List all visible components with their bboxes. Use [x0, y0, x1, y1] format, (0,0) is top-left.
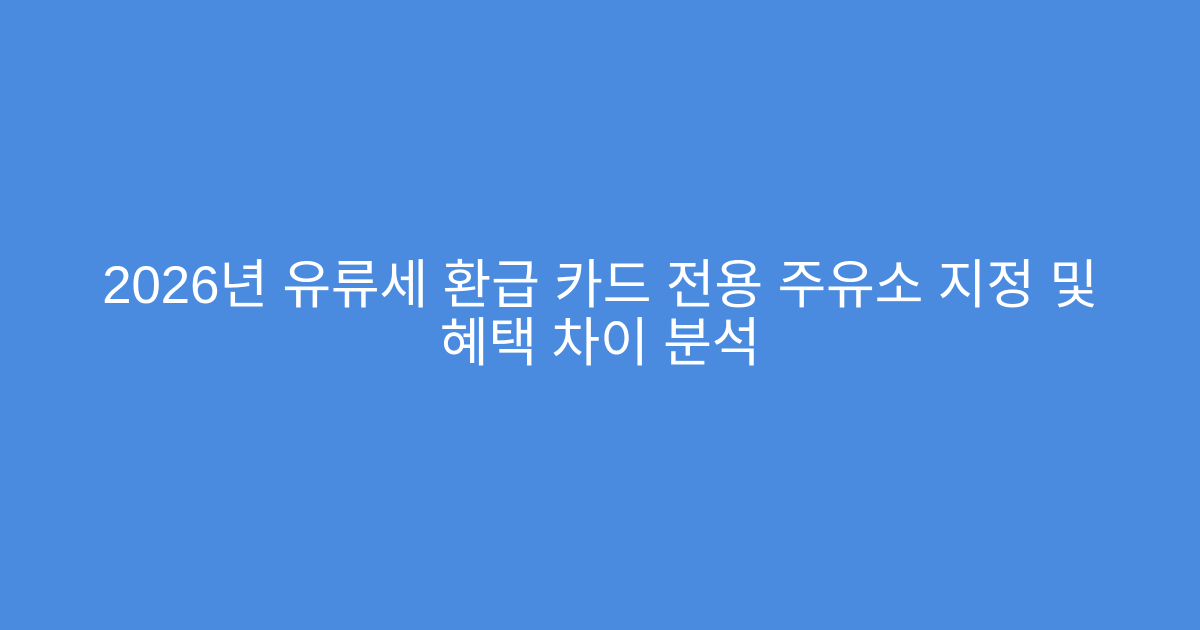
title-block: 2026년 유류세 환급 카드 전용 주유소 지정 및 혜택 차이 분석 — [60, 257, 1140, 373]
page-title: 2026년 유류세 환급 카드 전용 주유소 지정 및 혜택 차이 분석 — [60, 257, 1140, 373]
title-card: 2026년 유류세 환급 카드 전용 주유소 지정 및 혜택 차이 분석 — [0, 0, 1200, 630]
